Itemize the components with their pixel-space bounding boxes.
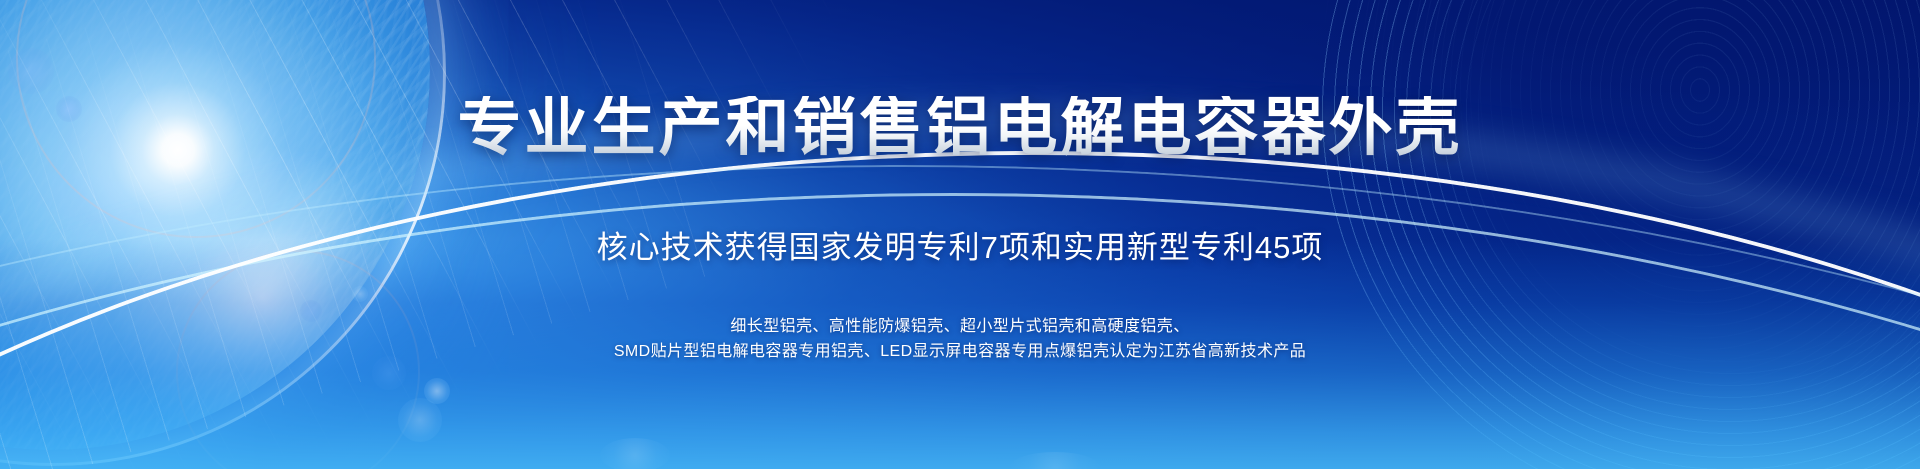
hero-banner: 专业生产和销售铝电解电容器外壳 核心技术获得国家发明专利7项和实用新型专利45项… (0, 0, 1920, 469)
